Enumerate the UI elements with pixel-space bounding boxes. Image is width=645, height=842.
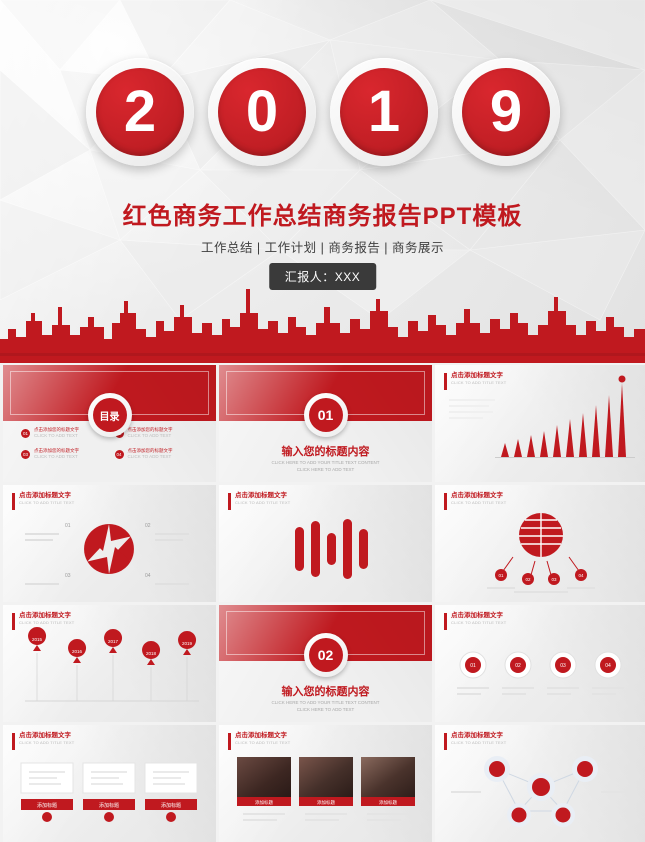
slide-header-title: 点击添加标题文字 xyxy=(451,732,506,740)
page-title: 红色商务工作总结商务报告PPT模板 xyxy=(0,196,645,231)
timeline-marker: 2017 xyxy=(104,629,122,701)
slide-header-title: 点击添加标题文字 xyxy=(19,732,74,740)
timeline-marker: 2015 xyxy=(28,627,46,701)
section-subtitle-en: CLICK HERE TO ADD YOUR TITLE TEXT CONTEN… xyxy=(219,460,432,467)
slide-thumbnail-grid: 目录 01 点击添加您的标题文字CLICK TO ADD TEXT 02 点击添… xyxy=(0,365,645,842)
toc-label-en: CLICK TO ADD TEXT xyxy=(34,454,79,460)
slide-header-subtitle: CLICK TO ADD TITLE TEXT xyxy=(235,740,290,745)
year-digit-1: 0 xyxy=(208,58,316,166)
photo-caption-0: 添加标题 xyxy=(255,799,273,806)
svg-text:04: 04 xyxy=(578,573,584,578)
slide-header-subtitle: CLICK TO ADD TITLE TEXT xyxy=(19,740,74,745)
section-number: 02 xyxy=(309,638,343,672)
list-item[interactable]: 04 点击添加您的标题文字CLICK TO ADD TEXT xyxy=(115,448,199,460)
accent-tick-icon xyxy=(12,733,15,750)
slide-header-title: 点击添加标题文字 xyxy=(451,492,506,500)
svg-text:02: 02 xyxy=(525,577,531,582)
section-number-badge: 01 xyxy=(304,393,348,437)
slide-header-title: 点击添加标题文字 xyxy=(235,492,290,500)
ppt-template-preview: 2 0 1 9 红色商务工作总结商务报告PPT模板 工作总结 | 工作计划 | … xyxy=(0,0,645,842)
slide-header-subtitle: CLICK TO ADD TITLE TEXT xyxy=(451,380,506,385)
slide-header: 点击添加标题文字 CLICK TO ADD TITLE TEXT xyxy=(228,492,290,510)
toc-label-en: CLICK TO ADD TEXT xyxy=(128,454,173,460)
toc-number: 04 xyxy=(115,450,124,459)
section-title: 输入您的标题内容 xyxy=(219,443,432,459)
slide-header-subtitle: CLICK TO ADD TITLE TEXT xyxy=(451,500,506,505)
timeline-marker: 2016 xyxy=(68,639,86,701)
svg-text:2015: 2015 xyxy=(32,637,43,642)
hero-subtitle: 工作总结 | 工作计划 | 商务报告 | 商务展示 xyxy=(0,237,645,256)
section-number-badge: 02 xyxy=(304,633,348,677)
section-title: 输入您的标题内容 xyxy=(219,683,432,699)
toc-badge: 目录 xyxy=(88,393,132,437)
slide-thumb-four-circles[interactable]: 点击添加标题文字 CLICK TO ADD TITLE TEXT 01 02 0… xyxy=(435,605,645,722)
section-subtitle: CLICK HERE TO ADD YOUR TITLE TEXT CONTEN… xyxy=(219,700,432,714)
slide-header: 点击添加标题文字 CLICK TO ADD TITLE TEXT xyxy=(444,612,506,630)
photo-caption-1: 添加标题 xyxy=(317,799,335,806)
slide-header-title: 点击添加标题文字 xyxy=(451,372,506,380)
svg-text:01: 01 xyxy=(498,573,504,578)
slide-header: 点击添加标题文字 CLICK TO ADD TITLE TEXT xyxy=(12,732,74,750)
svg-text:02: 02 xyxy=(515,663,521,669)
slide-thumb-dome[interactable]: 点击添加标题文字 CLICK TO ADD TITLE TEXT xyxy=(435,485,645,602)
photo-caption-2: 添加标题 xyxy=(379,799,397,806)
toc-label-en: CLICK TO ADD TEXT xyxy=(34,433,79,439)
slide-thumb-photos[interactable]: 点击添加标题文字 CLICK TO ADD TITLE TEXT xyxy=(219,725,432,842)
slide-thumb-bar-chart[interactable]: 点击添加标题文字 CLICK TO ADD TITLE TEXT xyxy=(435,365,645,482)
year-digit-2-text: 1 xyxy=(340,68,428,156)
svg-text:01: 01 xyxy=(470,663,476,669)
slide-thumb-aperture[interactable]: 点击添加标题文字 CLICK TO ADD TITLE TEXT 01 02 0… xyxy=(3,485,216,602)
slide-thumb-network[interactable]: 点击添加标题文字 CLICK TO ADD TITLE TEXT xyxy=(435,725,645,842)
card-label-2: 添加标题 xyxy=(161,802,181,809)
slide-header: 点击添加标题文字 CLICK TO ADD TITLE TEXT xyxy=(444,492,506,510)
slide-thumb-section-02[interactable]: 02 输入您的标题内容 CLICK HERE TO ADD YOUR TITLE… xyxy=(219,605,432,722)
slide-header: 点击添加标题文字 CLICK TO ADD TITLE TEXT xyxy=(228,732,290,750)
svg-text:03: 03 xyxy=(551,577,557,582)
svg-text:2016: 2016 xyxy=(72,649,83,654)
accent-tick-icon xyxy=(12,493,15,510)
slide-header-title: 点击添加标题文字 xyxy=(235,732,290,740)
list-item[interactable]: 03 点击添加您的标题文字CLICK TO ADD TEXT xyxy=(21,448,105,460)
aperture-label-1: 02 xyxy=(145,523,151,529)
slide-header: 点击添加标题文字 CLICK TO ADD TITLE TEXT xyxy=(12,612,74,630)
hero-bottom-accent-bar xyxy=(0,356,645,363)
slide-header-subtitle: CLICK TO ADD TITLE TEXT xyxy=(235,500,290,505)
accent-tick-icon xyxy=(444,733,447,750)
slide-thumb-section-01[interactable]: 01 输入您的标题内容 CLICK HERE TO ADD YOUR TITLE… xyxy=(219,365,432,482)
toc-badge-label: 目录 xyxy=(93,398,127,432)
slide-header: 点击添加标题文字 CLICK TO ADD TITLE TEXT xyxy=(444,732,506,750)
section-subtitle-en: CLICK HERE TO ADD YOUR TITLE TEXT CONTEN… xyxy=(219,700,432,707)
timeline-marker: 2018 xyxy=(142,641,160,701)
section-subtitle-en2: CLICK HERE TO ADD TEXT xyxy=(219,707,432,714)
section-subtitle: CLICK HERE TO ADD YOUR TITLE TEXT CONTEN… xyxy=(219,460,432,474)
section-number: 01 xyxy=(309,398,343,432)
slide-thumb-cards[interactable]: 点击添加标题文字 CLICK TO ADD TITLE TEXT 添加标题 添加… xyxy=(3,725,216,842)
svg-text:04: 04 xyxy=(605,663,611,669)
accent-tick-icon xyxy=(12,613,15,630)
slide-thumb-pills[interactable]: 点击添加标题文字 CLICK TO ADD TITLE TEXT xyxy=(219,485,432,602)
year-digit-3: 9 xyxy=(452,58,560,166)
svg-text:2018: 2018 xyxy=(146,651,157,656)
card-label-1: 添加标题 xyxy=(99,802,119,809)
aperture-label-3: 04 xyxy=(145,573,151,579)
slide-header-title: 点击添加标题文字 xyxy=(19,612,74,620)
slide-header: 点击添加标题文字 CLICK TO ADD TITLE TEXT xyxy=(444,372,506,390)
card-label-0: 添加标题 xyxy=(37,802,57,809)
accent-tick-icon xyxy=(444,373,447,390)
section-subtitle-en2: CLICK HERE TO ADD TEXT xyxy=(219,467,432,474)
slide-header-subtitle: CLICK TO ADD TITLE TEXT xyxy=(451,620,506,625)
timeline-marker: 2019 xyxy=(178,631,196,701)
accent-tick-icon xyxy=(228,733,231,750)
toc-number: 01 xyxy=(21,429,30,438)
toc-label-en: CLICK TO ADD TEXT xyxy=(128,433,173,439)
svg-text:2017: 2017 xyxy=(108,639,119,644)
year-digit-2: 1 xyxy=(330,58,438,166)
slide-header-title: 点击添加标题文字 xyxy=(451,612,506,620)
slide-header-subtitle: CLICK TO ADD TITLE TEXT xyxy=(19,500,74,505)
slide-header-title: 点击添加标题文字 xyxy=(19,492,74,500)
aperture-label-2: 03 xyxy=(65,573,71,579)
slide-header-subtitle: CLICK TO ADD TITLE TEXT xyxy=(19,620,74,625)
accent-tick-icon xyxy=(444,613,447,630)
year-digit-1-text: 0 xyxy=(218,68,306,156)
year-digit-0: 2 xyxy=(86,58,194,166)
hero-slide: 2 0 1 9 红色商务工作总结商务报告PPT模板 工作总结 | 工作计划 | … xyxy=(0,0,645,363)
presenter-badge: 汇报人：XXX xyxy=(269,263,377,290)
slide-header-subtitle: CLICK TO ADD TITLE TEXT xyxy=(451,740,506,745)
year-badges: 2 0 1 9 xyxy=(0,58,645,166)
accent-tick-icon xyxy=(444,493,447,510)
accent-tick-icon xyxy=(228,493,231,510)
aperture-label-0: 01 xyxy=(65,523,71,529)
toc-number: 03 xyxy=(21,450,30,459)
slide-thumb-toc[interactable]: 目录 01 点击添加您的标题文字CLICK TO ADD TEXT 02 点击添… xyxy=(3,365,216,482)
slide-thumb-timeline[interactable]: 点击添加标题文字 CLICK TO ADD TITLE TEXT 2015 20… xyxy=(3,605,216,722)
list-item[interactable]: 02 点击添加您的标题文字CLICK TO ADD TEXT xyxy=(115,427,199,439)
year-digit-3-text: 9 xyxy=(462,68,550,156)
year-digit-0-text: 2 xyxy=(96,68,184,156)
svg-text:03: 03 xyxy=(560,663,566,669)
svg-text:2019: 2019 xyxy=(182,641,193,646)
slide-header: 点击添加标题文字 CLICK TO ADD TITLE TEXT xyxy=(12,492,74,510)
